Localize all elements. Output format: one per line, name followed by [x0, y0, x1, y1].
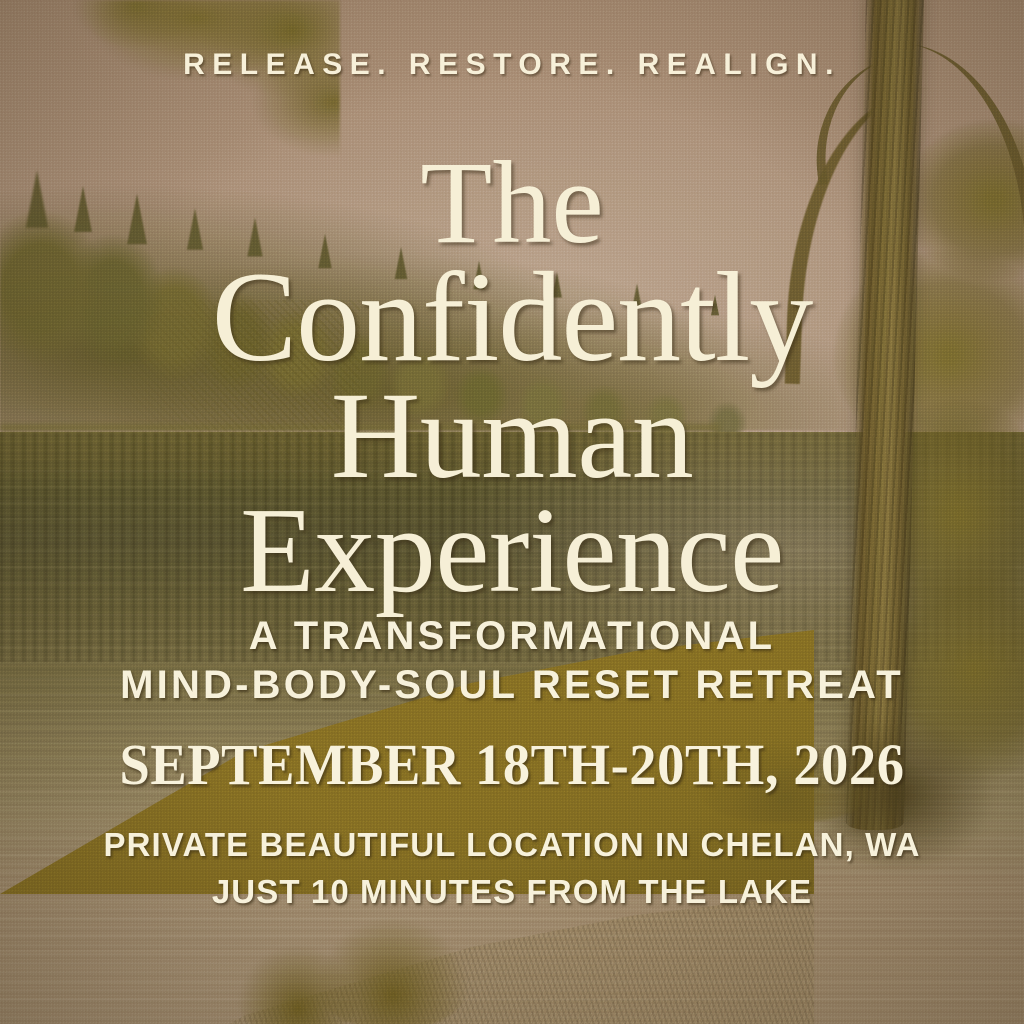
tagline: RELEASE. RESTORE. REALIGN. [0, 48, 1024, 82]
poster-content: RELEASE. RESTORE. REALIGN. The Confident… [0, 0, 1024, 1024]
subtitle: A TRANSFORMATIONAL MIND-BODY-SOUL RESET … [0, 612, 1024, 710]
headline: The Confidently Human Experience [0, 148, 1024, 608]
subtitle-line-1: A TRANSFORMATIONAL [0, 612, 1024, 661]
venue-line-1: PRIVATE BEAUTIFUL LOCATION IN CHELAN, WA [0, 822, 1024, 869]
subtitle-line-2: MIND-BODY-SOUL RESET RETREAT [0, 661, 1024, 710]
headline-line-2: Confidently [0, 258, 1024, 378]
venue-line-2: JUST 10 MINUTES FROM THE LAKE [0, 869, 1024, 916]
venue-info: PRIVATE BEAUTIFUL LOCATION IN CHELAN, WA… [0, 822, 1024, 916]
headline-line-1: The [0, 148, 1024, 258]
headline-line-4: Experience [0, 494, 1024, 608]
headline-line-3: Human [0, 378, 1024, 494]
event-date: SEPTEMBER 18TH-20TH, 2026 [31, 731, 994, 798]
retreat-poster: RELEASE. RESTORE. REALIGN. The Confident… [0, 0, 1024, 1024]
